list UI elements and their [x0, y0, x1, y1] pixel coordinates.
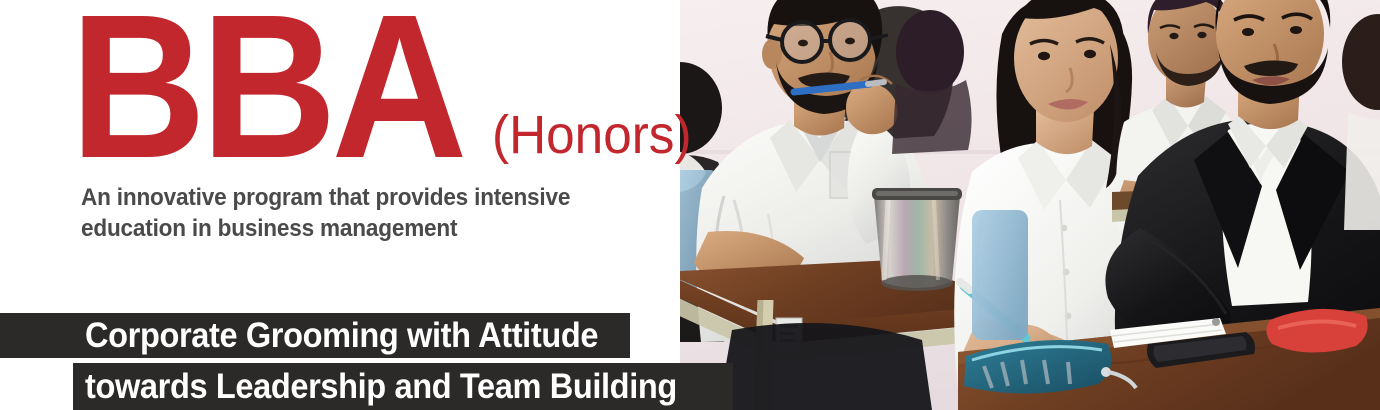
program-tagline: An innovative program that provides inte…	[81, 182, 636, 244]
highlight-bar-1: Corporate Grooming with Attitude	[0, 313, 630, 358]
student-far-right	[1342, 14, 1380, 230]
highlight-bar-2: towards Leadership and Team Building	[73, 363, 733, 410]
tagline-line-2: education in business management	[81, 213, 636, 244]
highlight-bar-2-text: towards Leadership and Team Building	[85, 369, 677, 404]
classroom-photo-illustration	[672, 0, 1380, 410]
highlight-bar-1-text: Corporate Grooming with Attitude	[85, 318, 598, 353]
page-title: BBA	[70, 0, 462, 189]
steel-tumbler	[872, 188, 962, 291]
chair-blue-right	[972, 210, 1028, 340]
program-title: BBA (Honors)	[70, 0, 702, 189]
classroom-photo	[672, 0, 1380, 410]
title-honors-suffix: (Honors)	[492, 108, 692, 162]
tagline-line-1: An innovative program that provides inte…	[81, 182, 636, 213]
bba-program-banner: BBA (Honors) An innovative program that …	[0, 0, 1380, 410]
